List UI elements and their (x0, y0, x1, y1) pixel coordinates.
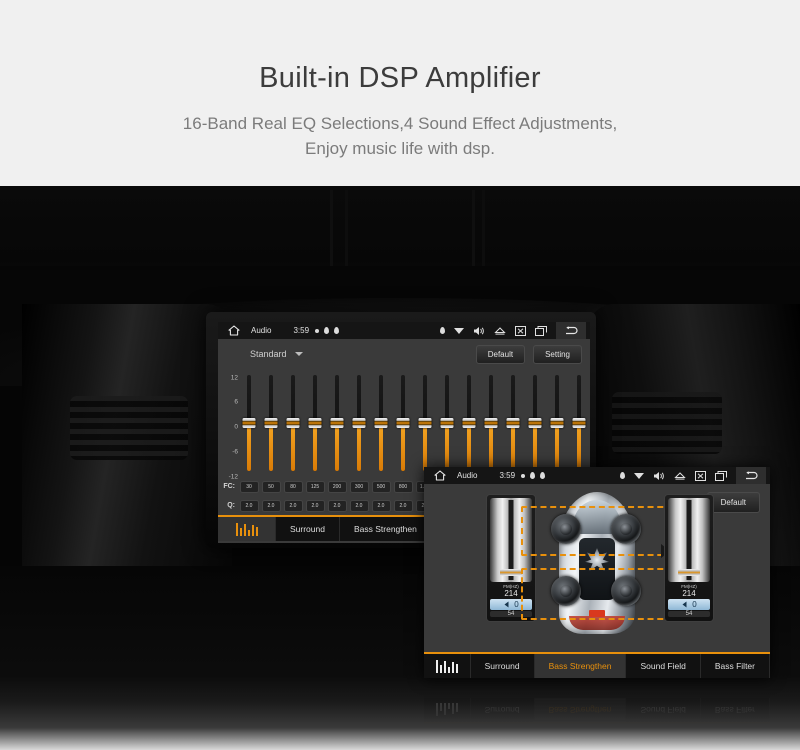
fc-value[interactable]: 200 (328, 481, 347, 493)
eq-band-fill (247, 423, 251, 471)
status-bar-right-icons[interactable] (620, 467, 770, 484)
q-cell[interactable]: 2.0 (284, 500, 303, 512)
q-value[interactable]: 2.0 (262, 500, 281, 512)
q-cell[interactable]: 2.0 (262, 500, 281, 512)
q-value[interactable]: 2.0 (328, 500, 347, 512)
eq-band-thumb[interactable] (265, 418, 278, 428)
fc-value[interactable]: 30 (240, 481, 259, 493)
tab-label: Surround (290, 524, 325, 534)
tab-label: Bass Filter (715, 661, 755, 671)
eq-band-slider[interactable] (370, 369, 392, 477)
eq-band-thumb[interactable] (243, 418, 256, 428)
air-vent-right (612, 392, 722, 454)
eq-band-fill (445, 423, 449, 471)
tab-label: Surround (485, 661, 520, 671)
fc-cell[interactable]: 500 (372, 481, 391, 493)
fc-value[interactable]: 300 (350, 481, 369, 493)
eject-icon[interactable] (674, 472, 686, 480)
windows-icon[interactable] (715, 471, 727, 481)
tab-surround[interactable]: Surround (471, 654, 535, 678)
right-gauge-bar (687, 500, 692, 580)
status-bar-mini-icons (315, 327, 339, 334)
q-cell[interactable]: 2.0 (350, 500, 369, 512)
q-cell[interactable]: 2.0 (394, 500, 413, 512)
tab-bass-filter[interactable]: Bass Filter (701, 654, 770, 678)
eq-band-thumb[interactable] (353, 418, 366, 428)
car-top-view-speakers[interactable] (545, 488, 649, 638)
eq-band-slider[interactable] (436, 369, 458, 477)
pin-icon (324, 327, 329, 334)
eq-band-thumb[interactable] (485, 418, 498, 428)
status-bar: Audio 3:59 (424, 467, 770, 484)
eq-band-slider[interactable] (546, 369, 568, 477)
q-cell[interactable]: 2.0 (240, 500, 259, 512)
fc-value[interactable]: 80 (284, 481, 303, 493)
status-bar-clock: 3:59 (293, 326, 309, 335)
eq-band-fill (357, 423, 361, 471)
q-value[interactable]: 2.0 (284, 500, 303, 512)
eq-band-thumb[interactable] (551, 418, 564, 428)
page-subtitle-line1: 16-Band Real EQ Selections,4 Sound Effec… (0, 111, 800, 136)
default-button[interactable]: Default (707, 492, 760, 513)
bass-strengthen-screen[interactable]: Audio 3:59 Default (424, 467, 770, 678)
eq-band-slider[interactable] (260, 369, 282, 477)
chevron-down-icon[interactable] (295, 352, 303, 356)
location-icon (315, 329, 319, 333)
tab-label: Bass Strengthen (354, 524, 417, 534)
eq-band-fill (401, 423, 405, 471)
eq-band-slider[interactable] (502, 369, 524, 477)
eq-band-thumb[interactable] (507, 418, 520, 428)
eq-band-fill (313, 423, 317, 471)
right-bottom-value: 54 (668, 611, 710, 617)
eq-band-fill (291, 423, 295, 471)
eq-band-fill (555, 423, 559, 471)
volume-icon[interactable] (473, 326, 485, 336)
q-value[interactable]: 2.0 (306, 500, 325, 512)
eq-band-fill (335, 423, 339, 471)
dashboard-frame-inner (345, 190, 485, 270)
bass-strengthen-body[interactable]: Default FM(HZ) 214 0 54 (424, 484, 770, 652)
default-button[interactable]: Default (476, 345, 525, 364)
right-level-panel[interactable]: FM(HZ) 214 0 54 (664, 494, 714, 622)
tab-sound-field[interactable]: Sound Field (626, 654, 700, 678)
equalizer-icon (436, 660, 458, 673)
eq-band-thumb[interactable] (331, 418, 344, 428)
fc-cell[interactable]: 300 (350, 481, 369, 493)
q-cell[interactable]: 2.0 (372, 500, 391, 512)
location-icon (620, 472, 625, 479)
eq-band-thumb[interactable] (309, 418, 322, 428)
eq-band-fill (467, 423, 471, 471)
q-cell[interactable]: 2.0 (328, 500, 347, 512)
pin-icon (540, 472, 545, 479)
fc-row-label: FC: (220, 483, 238, 490)
fc-cell[interactable]: 50 (262, 481, 281, 493)
eq-band-slider[interactable] (326, 369, 348, 477)
eq-band-fill (269, 423, 273, 471)
eq-band-slider[interactable] (282, 369, 304, 477)
right-fm-value: 214 (668, 589, 710, 598)
air-vent-left (70, 396, 188, 460)
tab-bass-strengthen[interactable]: Bass Strengthen (535, 654, 627, 678)
inset-tab-bar[interactable]: SurroundBass StrengthenSound FieldBass F… (424, 652, 770, 678)
eq-band-fill (423, 423, 427, 471)
eq-band-thumb[interactable] (529, 418, 542, 428)
fc-value[interactable]: 50 (262, 481, 281, 493)
eq-band-thumb[interactable] (397, 418, 410, 428)
q-value[interactable]: 2.0 (240, 500, 259, 512)
eq-band-thumb[interactable] (463, 418, 476, 428)
volume-icon[interactable] (653, 471, 665, 481)
tab-label: Bass Strengthen (549, 661, 612, 671)
eq-toolbar-buttons[interactable]: Default Setting (476, 345, 582, 364)
tab-equalizer[interactable] (218, 517, 276, 541)
q-value[interactable]: 2.0 (372, 500, 391, 512)
preset-selector[interactable]: Standard (250, 349, 303, 359)
eq-band-thumb[interactable] (375, 418, 388, 428)
eq-band-fill (577, 423, 581, 471)
windows-icon[interactable] (535, 326, 547, 336)
floor-gradient (0, 676, 800, 750)
status-bar-title: Audio (251, 326, 271, 335)
left-adjust-value: 0 (514, 600, 518, 609)
page-subtitle-line2: Enjoy music life with dsp. (0, 136, 800, 161)
home-icon[interactable] (429, 470, 451, 481)
left-gauge-thumb[interactable] (500, 569, 522, 576)
front-row-selection[interactable] (521, 506, 673, 556)
fc-value[interactable]: 800 (394, 481, 413, 493)
rear-row-selection[interactable] (521, 568, 673, 620)
pin-icon (530, 472, 535, 479)
location-icon (521, 474, 525, 478)
eq-band-slider[interactable] (480, 369, 502, 477)
back-icon[interactable] (556, 322, 586, 339)
q-cell[interactable]: 2.0 (306, 500, 325, 512)
page-title: Built-in DSP Amplifier (0, 62, 800, 95)
eq-band-fill (511, 423, 515, 471)
tab-equalizer[interactable] (424, 654, 471, 678)
right-gauge-thumb[interactable] (678, 569, 700, 576)
eq-band-fill (533, 423, 537, 471)
status-bar: Audio 3:59 (218, 322, 590, 339)
eq-band-thumb[interactable] (573, 418, 586, 428)
pin-icon (334, 327, 339, 334)
q-value[interactable]: 2.0 (350, 500, 369, 512)
location-icon (440, 327, 445, 334)
home-icon[interactable] (223, 325, 245, 336)
left-gauge-bar (509, 500, 514, 580)
q-row-label: Q: (220, 502, 238, 509)
tab-label: Sound Field (640, 661, 685, 671)
eq-band-slider[interactable] (524, 369, 546, 477)
right-level-gauge[interactable] (668, 498, 710, 582)
status-bar-title: Audio (457, 471, 477, 480)
prev-arrow-icon[interactable] (681, 601, 688, 608)
q-value[interactable]: 2.0 (394, 500, 413, 512)
fc-value[interactable]: 125 (306, 481, 325, 493)
close-icon[interactable] (515, 326, 526, 336)
eq-axis-labels: 1260-6-12 (220, 369, 238, 477)
eq-band-thumb[interactable] (441, 418, 454, 428)
eq-band-slider[interactable] (392, 369, 414, 477)
eq-band-slider[interactable] (414, 369, 436, 477)
eq-toolbar[interactable]: Standard Default Setting (218, 339, 590, 369)
fc-cell[interactable]: 800 (394, 481, 413, 493)
equalizer-icon (236, 523, 258, 536)
prev-arrow-icon[interactable] (503, 601, 510, 608)
eq-slider-area[interactable]: 1260-6-12 (218, 369, 590, 477)
close-icon[interactable] (695, 471, 706, 481)
header-band: Built-in DSP Amplifier 16-Band Real EQ S… (0, 0, 800, 186)
fc-cell[interactable]: 200 (328, 481, 347, 493)
eq-band-fill (489, 423, 493, 471)
wifi-icon (454, 327, 464, 335)
back-icon[interactable] (736, 467, 766, 484)
fc-cell[interactable]: 30 (240, 481, 259, 493)
eq-band-thumb[interactable] (419, 418, 432, 428)
fc-cell[interactable]: 80 (284, 481, 303, 493)
right-adjust-row[interactable]: 0 (668, 599, 710, 610)
inset-screen-wrapper: Audio 3:59 Default (424, 467, 770, 678)
setting-button[interactable]: Setting (533, 345, 582, 364)
right-adjust-value: 0 (692, 600, 696, 609)
preset-label: Standard (250, 349, 287, 359)
eject-icon[interactable] (494, 327, 506, 335)
eq-band-thumb[interactable] (287, 418, 300, 428)
eq-axis-label: 12 (231, 374, 238, 381)
eq-band-slider[interactable] (238, 369, 260, 477)
eq-slider-group[interactable] (238, 369, 590, 477)
wifi-icon (634, 472, 644, 480)
fc-value[interactable]: 500 (372, 481, 391, 493)
fc-cell[interactable]: 125 (306, 481, 325, 493)
status-bar-mini-icons (521, 472, 545, 479)
eq-band-slider[interactable] (568, 369, 590, 477)
page-subtitle: 16-Band Real EQ Selections,4 Sound Effec… (0, 111, 800, 161)
eq-band-slider[interactable] (458, 369, 480, 477)
eq-band-slider[interactable] (348, 369, 370, 477)
eq-axis-label: -12 (229, 474, 238, 481)
tab-surround[interactable]: Surround (276, 517, 340, 541)
tab-bass-strengthen[interactable]: Bass Strengthen (340, 517, 432, 541)
status-bar-clock: 3:59 (499, 471, 515, 480)
eq-band-fill (379, 423, 383, 471)
status-bar-right-icons[interactable] (440, 322, 590, 339)
eq-band-slider[interactable] (304, 369, 326, 477)
